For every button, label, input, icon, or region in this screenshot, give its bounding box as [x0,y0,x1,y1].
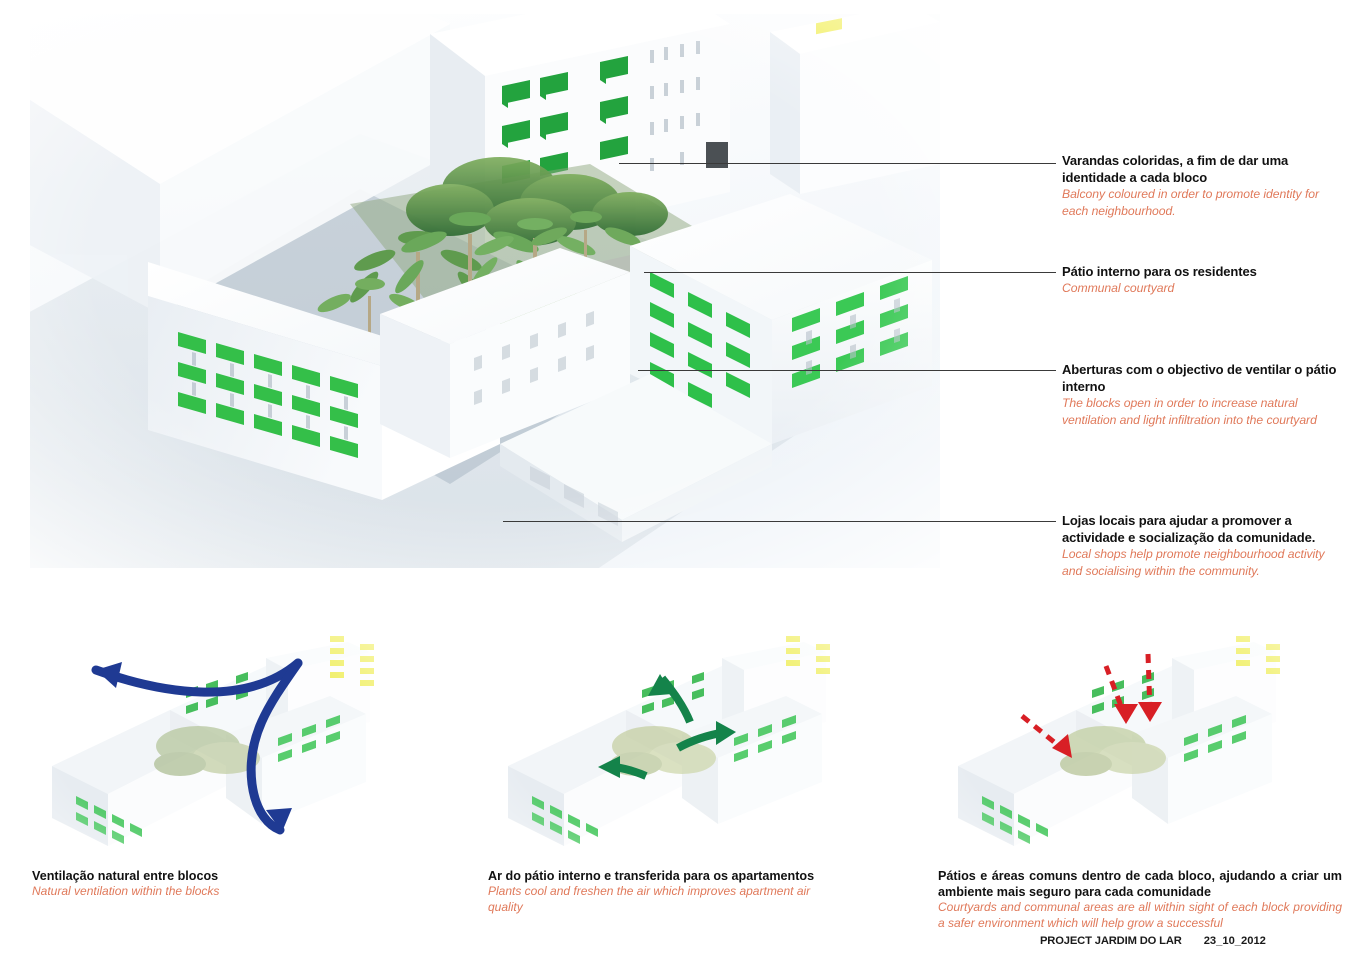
surveillance-diagram [936,618,1291,856]
caption-ventilation: Ventilação natural entre blocos Natural … [32,868,452,900]
annotation-title-pt: Lojas locais para ajudar a promover a ac… [1062,512,1344,546]
annotation-shops: Lojas locais para ajudar a promover a ac… [1062,512,1344,579]
annotation-balconies: Varandas coloridas, a fim de dar uma ide… [1062,152,1348,219]
annotation-title-pt: Aberturas com o objectivo de ventilar o … [1062,361,1342,395]
footer-date: 23_10_2012 [1204,935,1266,947]
leader-line-courtyard [644,272,1056,273]
caption-title-en: Plants cool and freshen the air which im… [488,884,848,915]
annotation-title-en: Local shops help promote neighbourhood a… [1062,546,1344,579]
footer: PROJECT JARDIM DO LAR23_10_2012 [1040,934,1340,947]
caption-air-quality: Ar do pátio interno e transferida para o… [488,868,848,915]
annotation-courtyard: Pátio interno para os residentes Communa… [1062,263,1348,297]
caption-title-en: Natural ventilation within the blocks [32,884,452,900]
main-render-image [30,14,940,568]
caption-surveillance: Pátios e áreas comuns dentro de cada blo… [938,868,1342,931]
annotation-title-en: Communal courtyard [1062,280,1348,297]
annotation-title-pt: Varandas coloridas, a fim de dar uma ide… [1062,152,1348,186]
leader-line-balconies [619,163,1056,164]
ventilation-diagram [30,618,385,856]
annotation-title-pt: Pátio interno para os residentes [1062,263,1348,280]
leader-line-shops [503,521,1056,522]
surveillance-diagram-svg [936,618,1291,856]
massing-render-svg [30,14,940,568]
annotation-title-en: Balcony coloured in order to promote ide… [1062,186,1348,219]
caption-title-pt: Pátios e áreas comuns dentro de cada blo… [938,868,1342,900]
ventilation-diagram-svg [30,618,385,856]
caption-title-pt: Ar do pátio interno e transferida para o… [488,868,848,884]
annotation-openings: Aberturas com o objectivo de ventilar o … [1062,361,1342,428]
caption-title-en: Courtyards and communal areas are all wi… [938,900,1342,931]
air-quality-diagram [486,618,841,856]
footer-project-title: PROJECT JARDIM DO LAR [1040,935,1182,947]
annotation-title-en: The blocks open in order to increase nat… [1062,395,1342,428]
leader-line-openings [638,370,1056,371]
air-quality-diagram-svg [486,618,841,856]
caption-title-pt: Ventilação natural entre blocos [32,868,452,884]
